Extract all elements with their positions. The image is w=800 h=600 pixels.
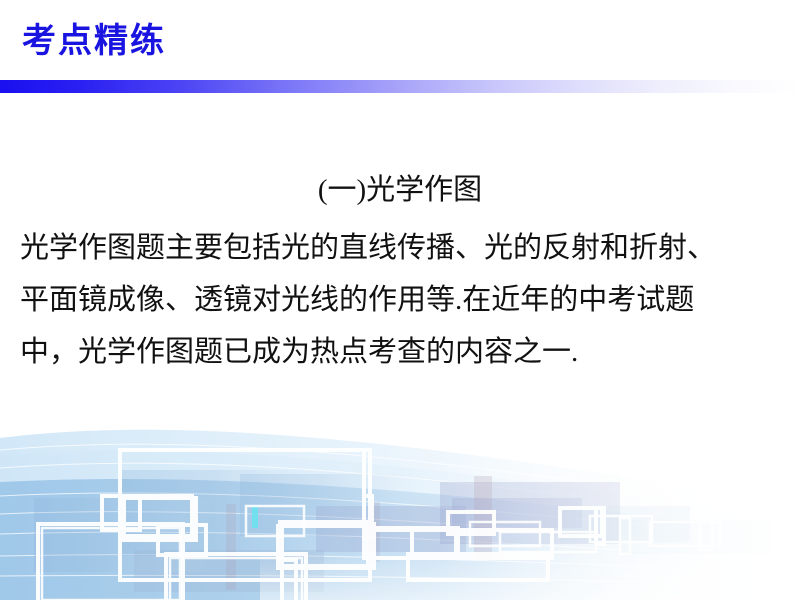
bottom-decoration-graphic [0,410,800,600]
decoration-outline-rects [38,450,604,600]
slide-canvas: 考点精练 (一)光学作图 光学作图题主要包括光的直线传播、光的反射和折射、 平面… [0,0,800,600]
paragraph-line: 中，光学作图题已成为热点考查的内容之一. [20,326,790,378]
section-heading: (一)光学作图 [0,168,800,212]
paragraph-line: 平面镜成像、透镜对光线的作用等.在近年的中考试题 [20,274,790,326]
decoration-swoosh-upper [0,430,800,600]
decoration-bottom-fade [260,550,800,600]
paragraph-line: 光学作图题主要包括光的直线传播、光的反射和折射、 [20,222,790,274]
decoration-fade-veil [440,410,800,600]
title-divider-bar [0,80,800,93]
decoration-outline-rects-thin [42,506,720,600]
decoration-hairlines [0,444,800,586]
body-paragraph: 光学作图题主要包括光的直线传播、光的反射和折射、 平面镜成像、透镜对光线的作用等… [20,222,790,378]
decoration-blocks [34,470,770,592]
page-title: 考点精练 [22,19,166,63]
decoration-band-main [0,479,800,600]
decoration-swoosh-mid [0,451,800,600]
decoration-svg [0,410,800,600]
decoration-cyan-accent [252,506,258,528]
